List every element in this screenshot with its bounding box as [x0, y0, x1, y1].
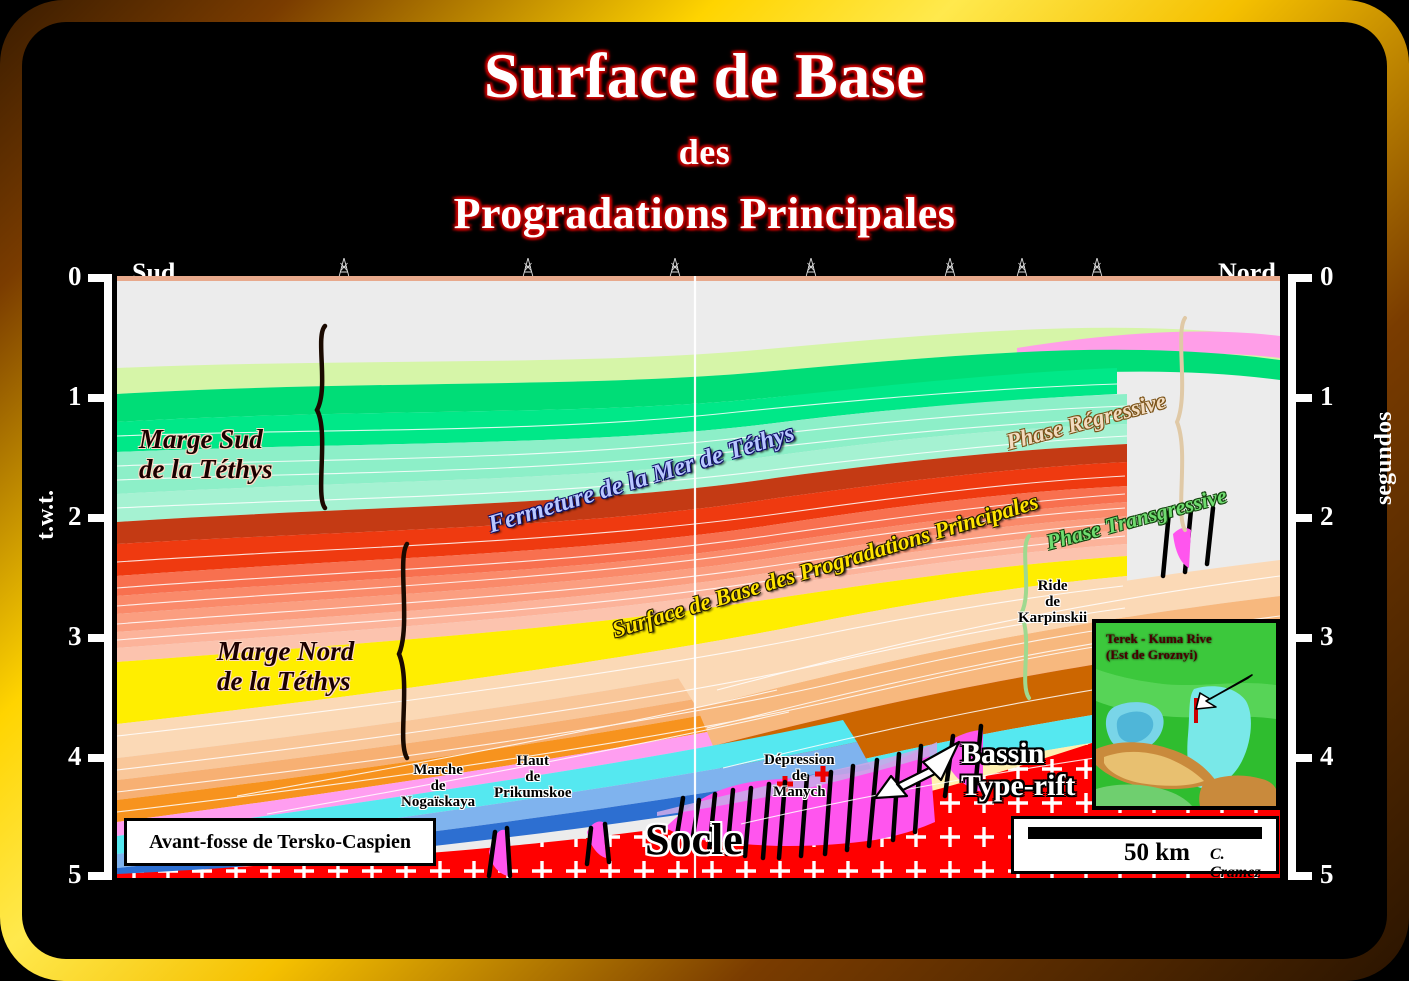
inset-location-map: Terek - Kuma Rive (Est de Groznyi)	[1092, 619, 1280, 810]
figure-stage: Surface de Base des Progradations Princi…	[0, 0, 1409, 981]
legend-avant-fosse-text: Avant-fosse de Tersko-Caspien	[149, 831, 411, 854]
right-tick-label-0: 0	[1320, 261, 1334, 292]
scale-bar	[1028, 827, 1262, 839]
scale-bar-box: 50 km C. Cramez	[1011, 816, 1279, 874]
right-tick-label-2: 2	[1320, 501, 1334, 532]
legend-avant-fosse: Avant-fosse de Tersko-Caspien	[124, 818, 436, 866]
inset-map-caption: Terek - Kuma Rive (Est de Groznyi)	[1106, 631, 1212, 664]
right-tick-4	[1288, 754, 1312, 762]
label-depression-manych: DépressiondeManych	[764, 753, 835, 800]
left-tick-label-2: 2	[68, 501, 82, 532]
label-haut-prikumskoe: HautdePrikumskoe	[494, 754, 572, 801]
right-tick-label-5: 5	[1320, 859, 1334, 890]
left-axis-title: t.w.t.	[33, 490, 60, 540]
label-ride-karpinskii: RidedeKarpinskii	[1018, 579, 1087, 626]
author-signature: C. Cramez	[1210, 846, 1276, 878]
left-axis-spine	[104, 274, 112, 880]
left-tick-label-0: 0	[68, 261, 82, 292]
left-tick-3	[88, 634, 112, 642]
title-subline: des	[0, 134, 1409, 170]
left-tick-0	[88, 274, 112, 282]
right-axis-title: segundos	[1371, 412, 1398, 505]
right-tick-5	[1288, 872, 1312, 880]
derrick-row	[117, 258, 1280, 278]
page-title: Surface de Base	[0, 44, 1409, 108]
label-bassin-type-rift: Bassin Type-rift	[961, 738, 1075, 802]
right-tick-label-1: 1	[1320, 381, 1334, 412]
left-tick-1	[88, 394, 112, 402]
label-marge-sud: Marge Sud de la Téthys	[139, 424, 272, 484]
left-tick-label-3: 3	[68, 621, 82, 652]
label-marge-nord: Marge Nord de la Téthys	[217, 636, 354, 696]
right-tick-0	[1288, 274, 1312, 282]
right-tick-1	[1288, 394, 1312, 402]
left-tick-label-4: 4	[68, 741, 82, 772]
left-tick-label-5: 5	[68, 859, 82, 890]
right-tick-3	[1288, 634, 1312, 642]
right-tick-label-4: 4	[1320, 741, 1334, 772]
left-tick-4	[88, 754, 112, 762]
title-line3: Progradations Principales	[0, 192, 1409, 236]
right-axis-spine	[1288, 274, 1296, 880]
left-tick-2	[88, 514, 112, 522]
right-tick-label-3: 3	[1320, 621, 1334, 652]
right-tick-2	[1288, 514, 1312, 522]
label-marche-nogaiskaya: MarchedeNogaïskaya	[401, 763, 475, 810]
left-tick-label-1: 1	[68, 381, 82, 412]
seismic-cross-section: Marge Sud de la Téthys Marge Nord de la …	[117, 276, 1280, 878]
label-socle: Socle	[645, 814, 743, 865]
left-tick-5	[88, 872, 112, 880]
scale-distance-label: 50 km	[1124, 839, 1190, 867]
